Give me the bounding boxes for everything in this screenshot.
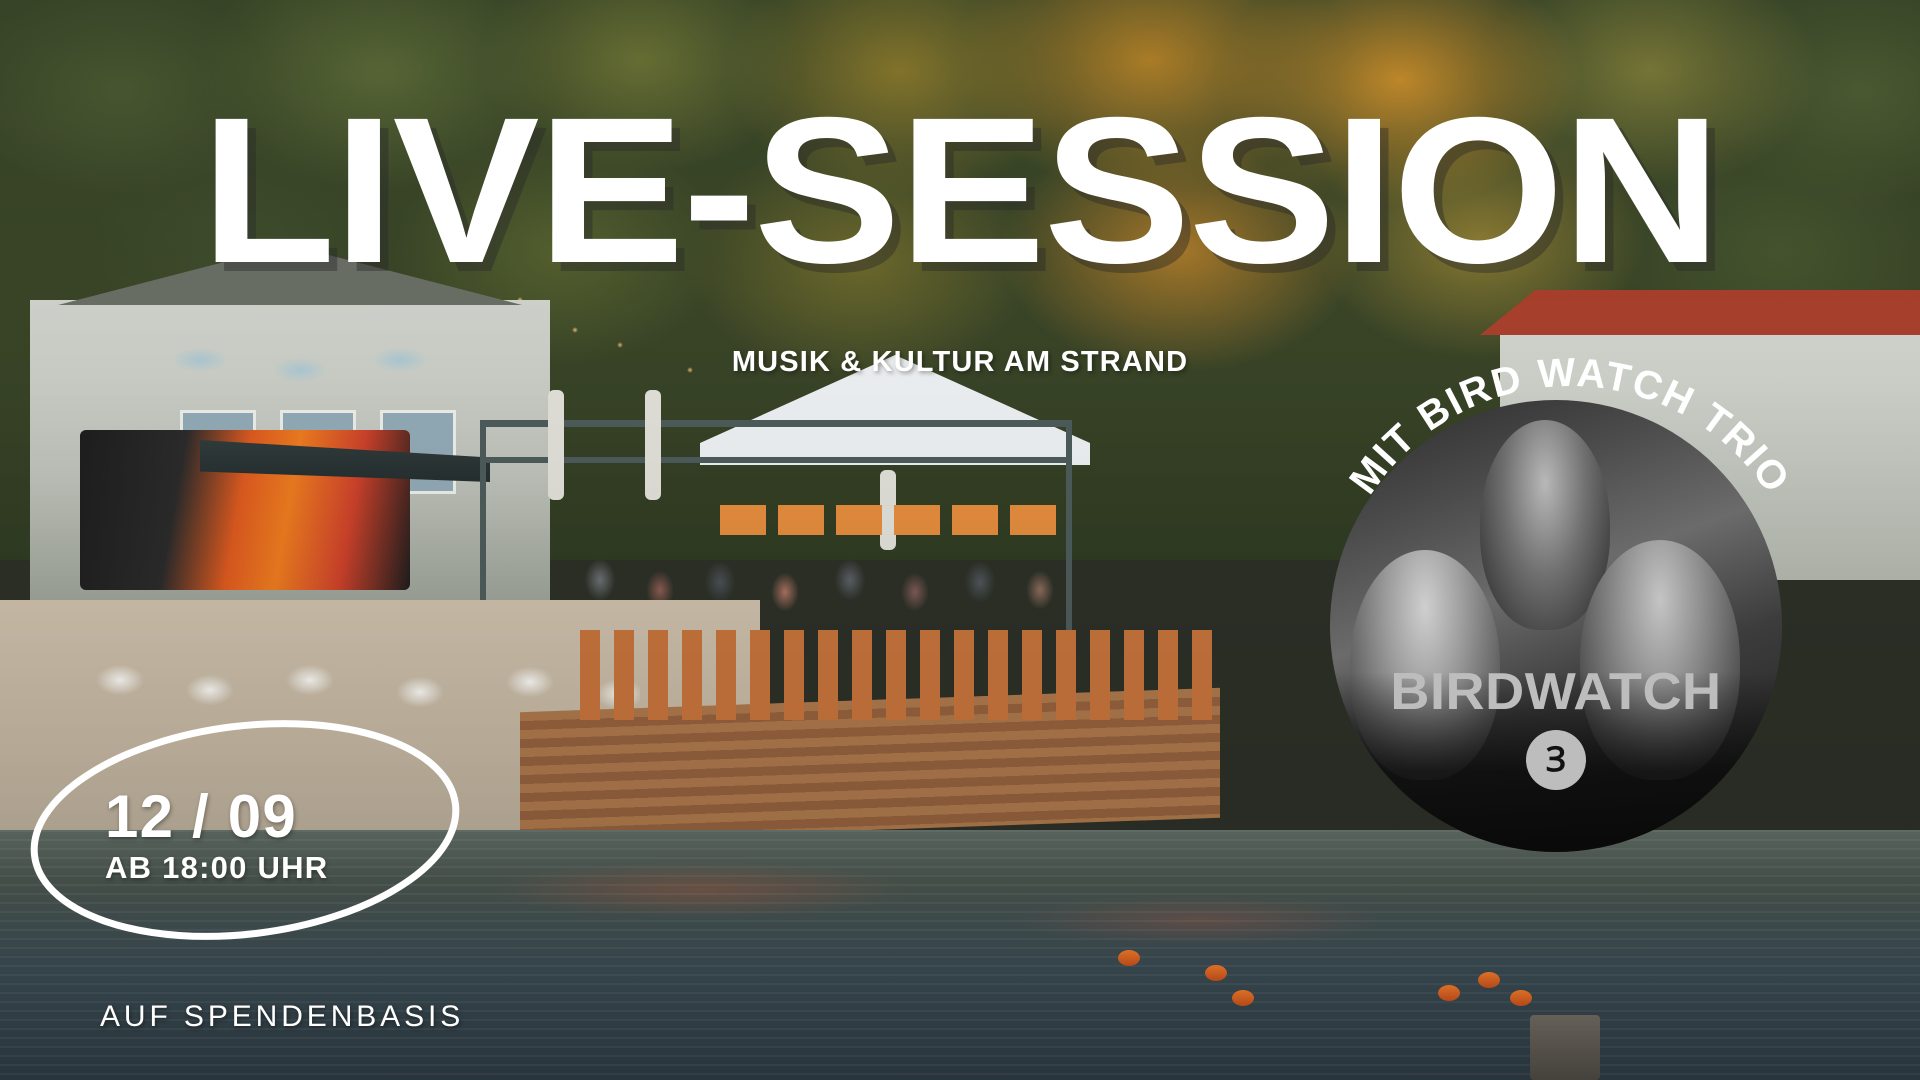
date-block: 12 / 09 AB 18:00 UHR (10, 700, 480, 960)
event-date: 12 / 09 (105, 782, 297, 851)
arc-text: MIT BIRD WATCH TRIO (1341, 350, 1799, 501)
band-badge: BIRDWATCH Ɜ MIT BIRD WATCH TRIO (1330, 400, 1782, 852)
event-poster: LIVE-SESSION MUSIK & KULTUR AM STRAND BI… (0, 0, 1920, 1080)
event-time: AB 18:00 UHR (105, 850, 328, 886)
admission-note: AUF SPENDENBASIS (100, 1000, 464, 1034)
arc-text-container: MIT BIRD WATCH TRIO (1270, 322, 1870, 922)
page-title: LIVE-SESSION (0, 96, 1920, 287)
